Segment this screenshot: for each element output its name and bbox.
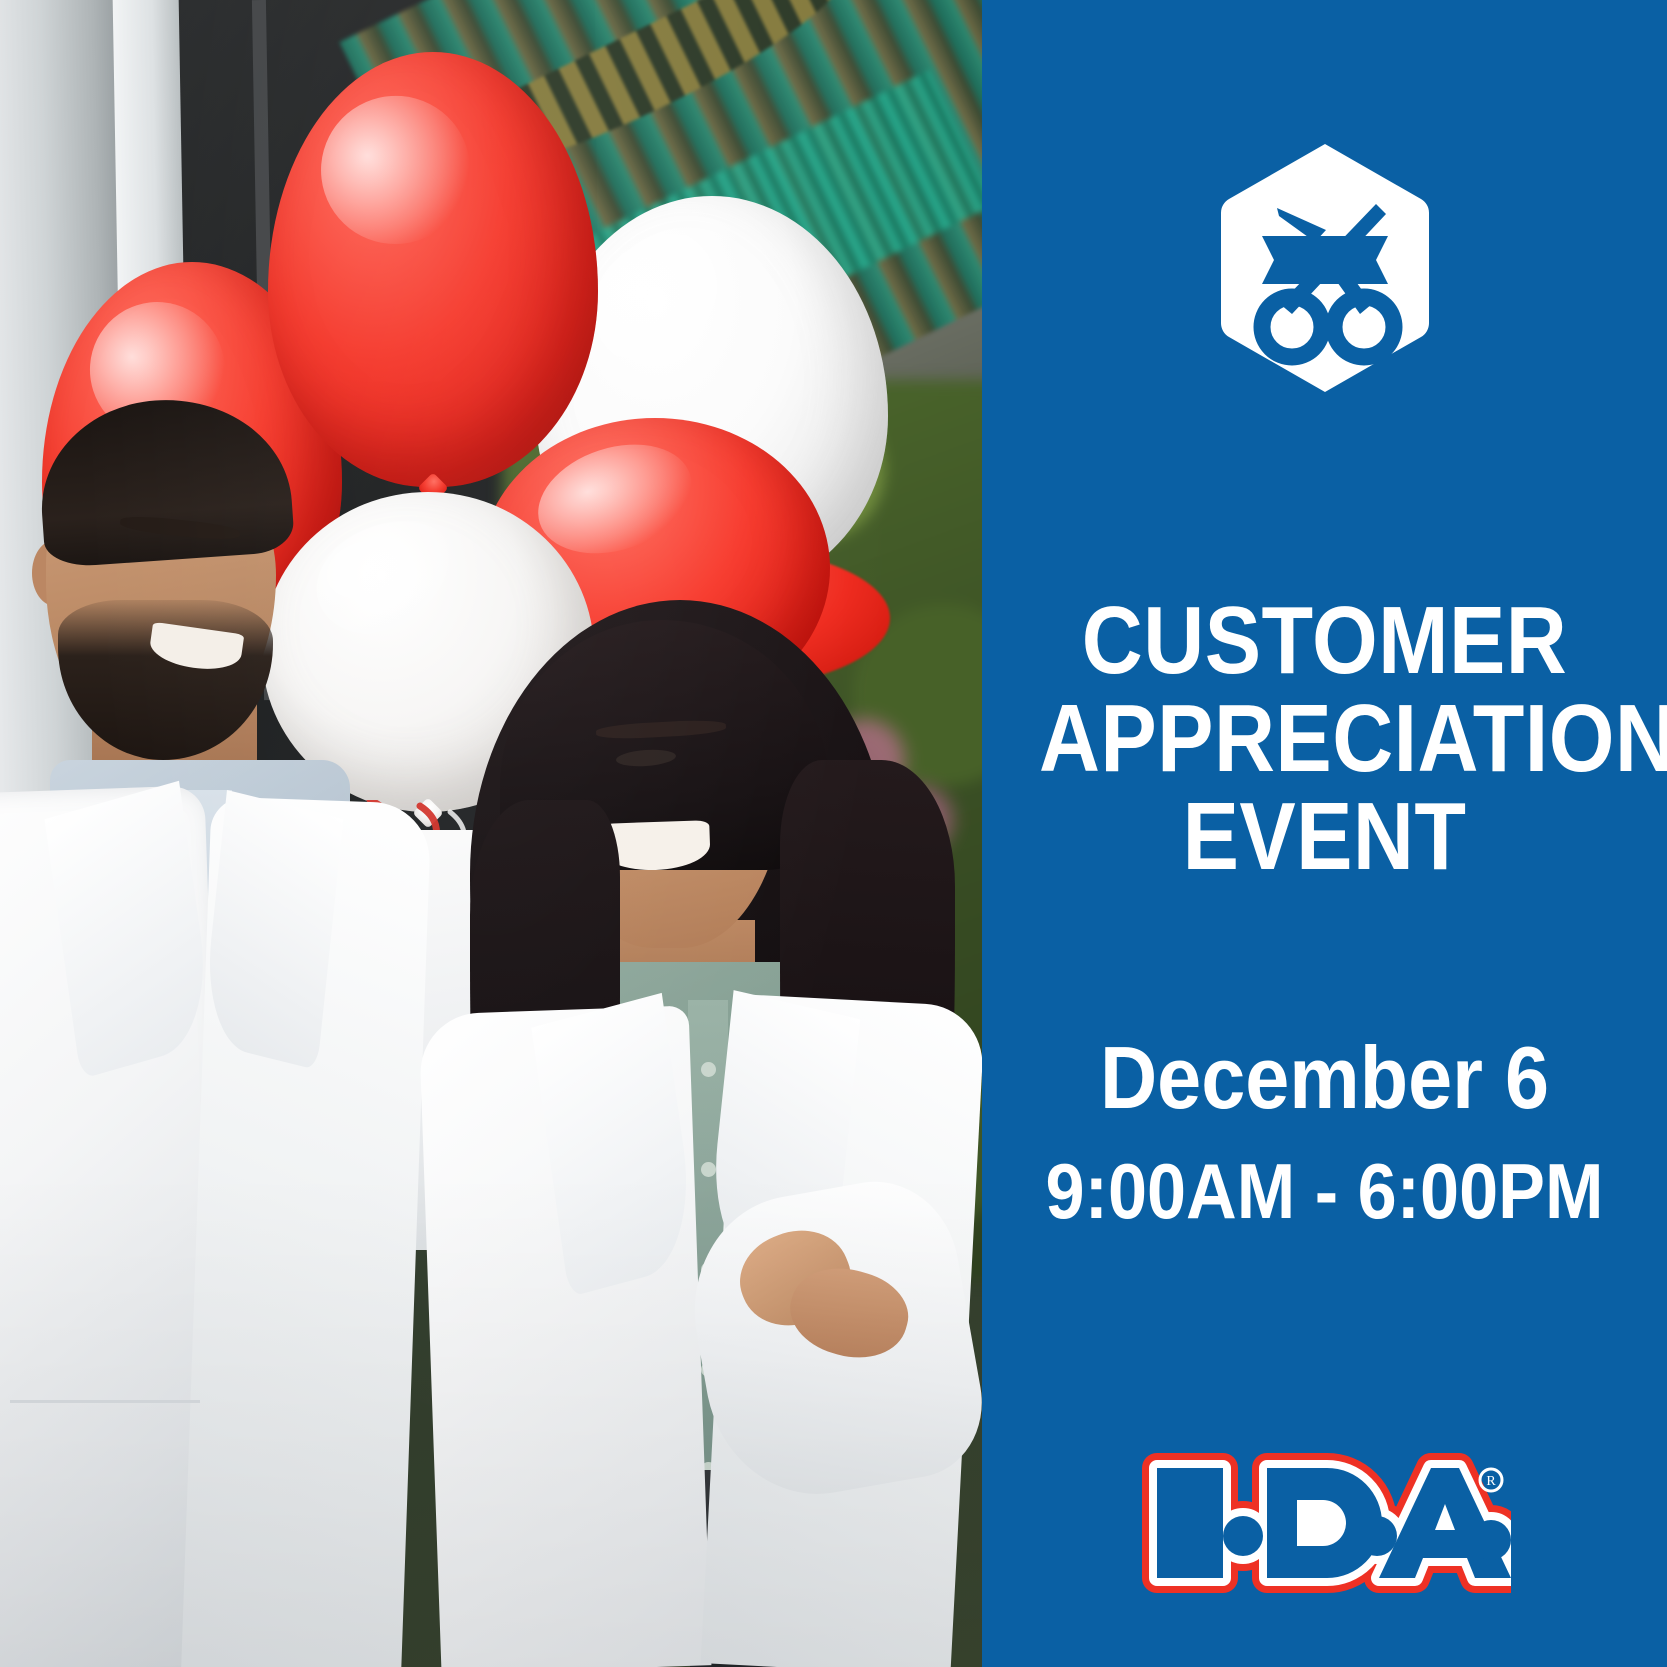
blouse-button [701, 1162, 716, 1177]
balloon-highlight [302, 76, 489, 263]
poster-canvas: CUSTOMER APPRECIATION EVENT December 6 9… [0, 0, 1667, 1667]
man-coat-pocket [10, 1400, 200, 1421]
blouse-button [701, 1062, 716, 1077]
headline-line-1: CUSTOMER [1039, 592, 1610, 690]
svg-text:R: R [1486, 1474, 1496, 1489]
registered-trademark-mark: R [1480, 1469, 1502, 1491]
event-date: December 6 [1032, 1030, 1616, 1126]
balloon-highlight [575, 215, 768, 393]
info-panel: CUSTOMER APPRECIATION EVENT December 6 9… [982, 0, 1667, 1667]
event-photo [0, 0, 982, 1667]
balloon-highlight [302, 504, 478, 654]
headline-line-2: APPRECIATION [1039, 690, 1610, 788]
ida-logo: R [982, 1452, 1667, 1594]
ribbon-cutting-hexagon-icon [982, 142, 1667, 394]
event-time: 9:00AM - 6:00PM [1032, 1148, 1616, 1234]
headline-line-3: EVENT [1039, 788, 1610, 886]
event-headline: CUSTOMER APPRECIATION EVENT [1039, 592, 1610, 886]
